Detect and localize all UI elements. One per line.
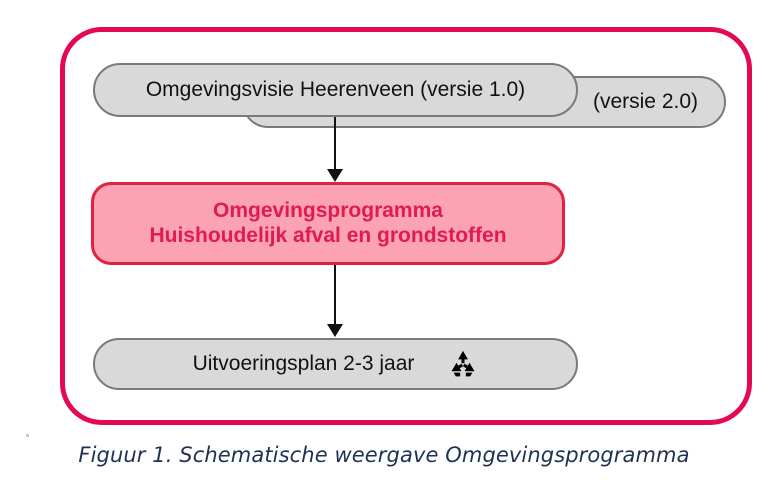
arrow-programma-to-uitvoeringsplan [324,265,346,339]
node-label-uitvoeringsplan: Uitvoeringsplan 2-3 jaar [193,352,415,377]
node-omgevingsprogramma[interactable]: Omgevingsprogramma Huishoudelijk afval e… [91,182,565,265]
arrow-shaft [334,117,336,171]
node-label-versie-1: Omgevingsvisie Heerenveen (versie 1.0) [146,78,525,103]
page-speck [26,434,29,437]
node-label-programma-line2: Huishoudelijk afval en grondstoffen [149,224,506,249]
recycle-icon [448,349,478,379]
arrow-visie-to-programma [324,117,346,183]
node-label-versie-2: (versie 2.0) [593,90,698,115]
arrow-shaft [334,265,336,326]
arrow-head [327,169,343,182]
diagram-canvas: (versie 2.0) Omgevingsvisie Heerenveen (… [0,0,768,489]
node-omgevingsvisie-versie-1[interactable]: Omgevingsvisie Heerenveen (versie 1.0) [93,63,578,117]
figure-caption: Figuur 1. Schematische weergave Omgeving… [0,443,768,467]
node-label-programma-line1: Omgevingsprogramma [213,199,443,224]
node-uitvoeringsplan[interactable]: Uitvoeringsplan 2-3 jaar [93,338,578,390]
arrow-head [327,324,343,337]
